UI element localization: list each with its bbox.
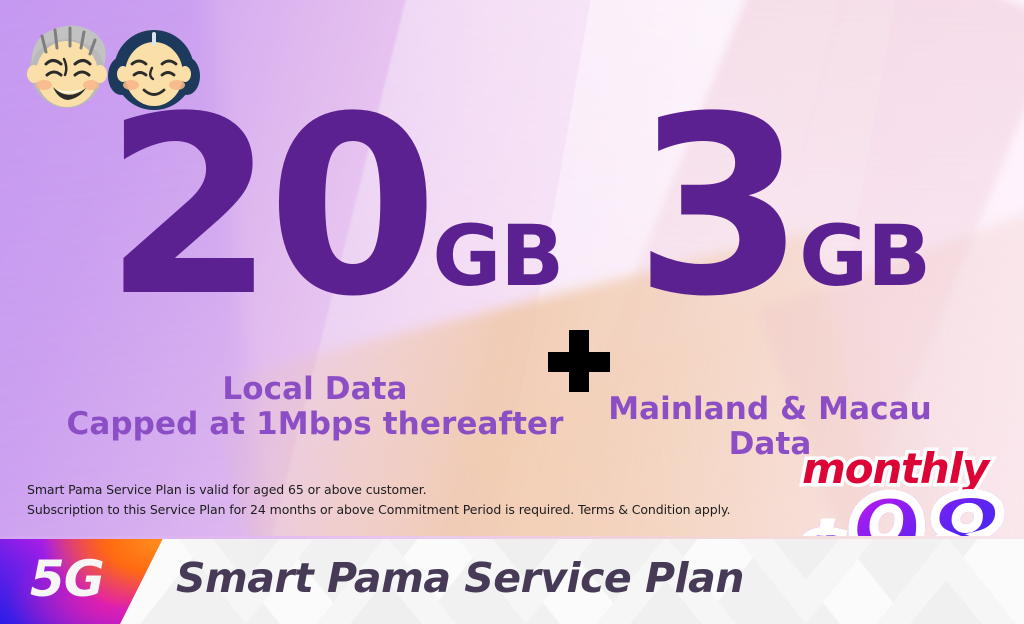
fineprint-line-2: Subscription to this Service Plan for 24… [27,500,787,520]
roaming-data-amount: 3 [634,108,797,310]
fineprint-line-1: Smart Pama Service Plan is valid for age… [27,480,787,500]
terms-fineprint: Smart Pama Service Plan is valid for age… [27,480,787,521]
older-man-emoji [20,18,116,110]
roaming-data-unit: GB [799,214,930,310]
plan-title: Smart Pama Service Plan [176,556,744,601]
local-data-caption-line-2: Capped at 1Mbps thereafter [60,407,570,442]
local-data-unit: GB [432,214,563,310]
local-data-package: 20 GB [104,108,563,310]
local-data-amount: 20 [104,108,430,310]
data-allowance-row: 20 GB 3 GB [0,108,1024,358]
local-data-caption-line-1: Local Data [60,372,570,407]
promo-banner: 20 GB 3 GB Local Data Capped at 1Mbps th… [0,0,1024,624]
footer-bar: 5G Smart Pama Service Plan [0,536,1024,624]
network-badge-label: 5G [30,554,104,604]
footer-top-divider [0,536,1024,539]
local-data-caption: Local Data Capped at 1Mbps thereafter [60,372,570,441]
roaming-data-package: 3 GB [634,108,930,310]
